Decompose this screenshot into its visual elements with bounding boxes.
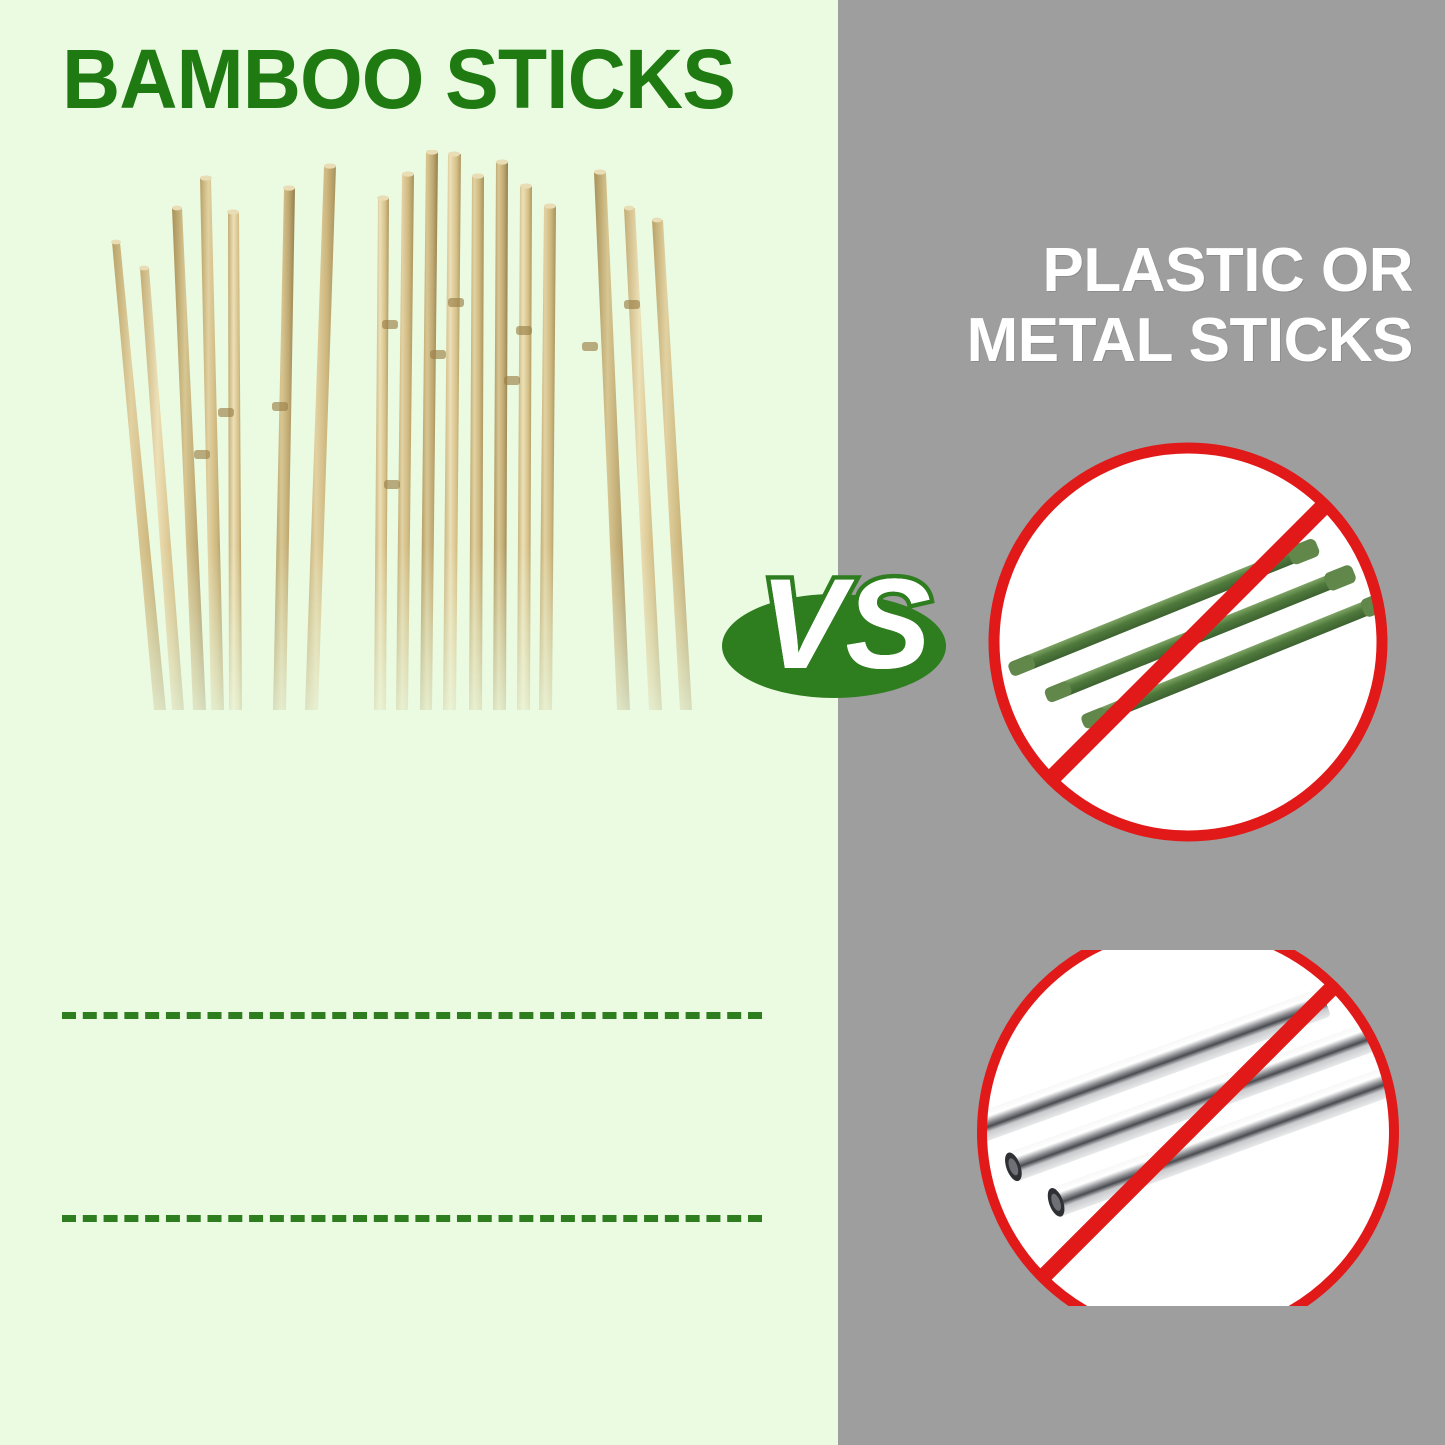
prohibition-icon-metal <box>972 950 1404 1306</box>
prohibition-icon-plastic <box>984 436 1392 848</box>
title-line-1: PLASTIC OR <box>873 236 1413 306</box>
page-title-bamboo: BAMBOO STICKS <box>62 33 735 125</box>
benefit-divider <box>62 1215 762 1222</box>
infographic-canvas: BAMBOO STICKS <box>0 0 1445 1445</box>
title-line-2: METAL STICKS <box>873 306 1413 376</box>
bamboo-sticks-photo <box>96 150 716 790</box>
benefit-divider <box>62 1012 762 1019</box>
page-title-alternatives: PLASTIC OR METAL STICKS <box>873 236 1413 376</box>
svg-text:VS: VS <box>760 553 931 696</box>
left-panel-bamboo: BAMBOO STICKS <box>0 0 838 1445</box>
versus-badge: VS VS <box>716 528 966 718</box>
